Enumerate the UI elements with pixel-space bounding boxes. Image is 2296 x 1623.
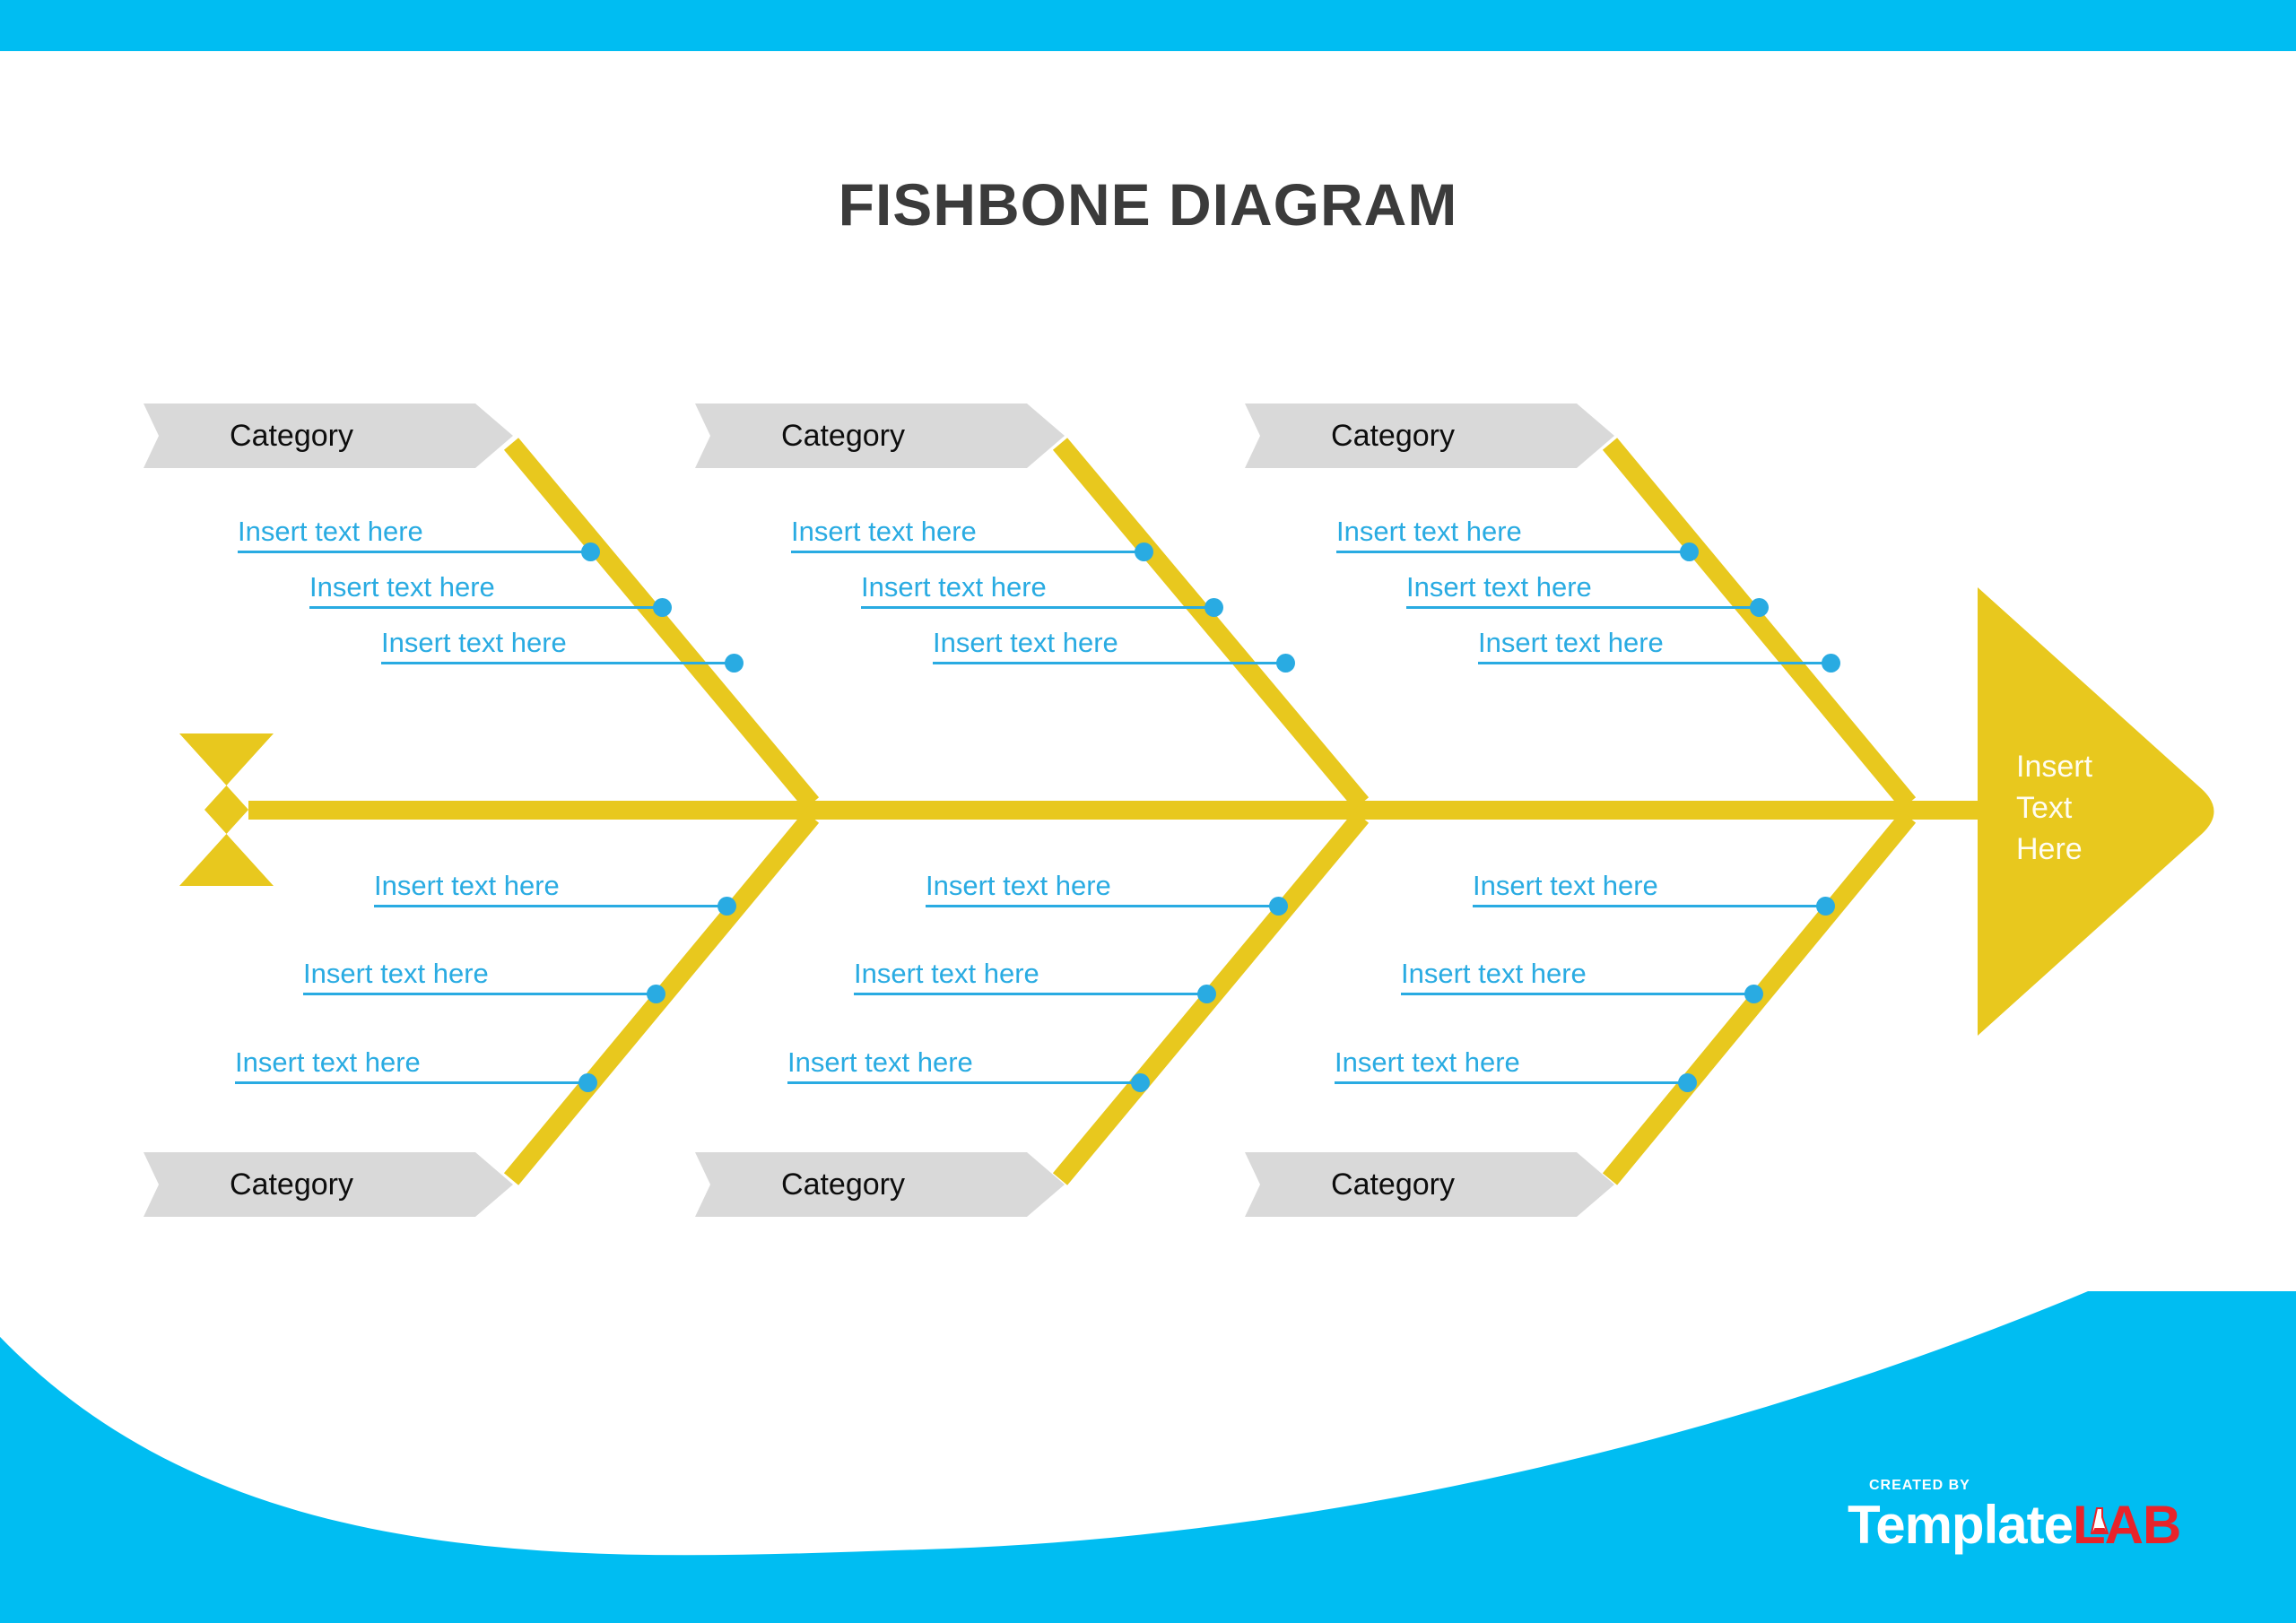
cause-row-bottom-middle-3[interactable]: Insert text here [787, 1037, 1146, 1088]
cause-underline [1336, 551, 1689, 553]
cause-dot-icon [1678, 1073, 1697, 1092]
cause-text: Insert text here [381, 627, 567, 659]
cause-underline [309, 606, 662, 609]
logo-lab-text: LAB [2073, 1495, 2180, 1555]
cause-underline [235, 1081, 587, 1084]
category-label: Category [1245, 419, 1577, 454]
cause-text: Insert text here [303, 958, 489, 990]
category-banner-top-left[interactable]: Category [143, 404, 475, 468]
cause-dot-icon [1197, 985, 1216, 1003]
cause-text: Insert text here [933, 627, 1118, 659]
category-banner-top-middle[interactable]: Category [695, 404, 1027, 468]
category-banner-point-top-right [1577, 404, 1614, 468]
category-banner-point-bottom-left [475, 1152, 513, 1217]
flask-icon [2091, 1506, 2109, 1537]
cause-underline [861, 606, 1213, 609]
cause-row-top-right-1[interactable]: Insert text here [1336, 507, 1695, 557]
cause-text: Insert text here [1478, 627, 1664, 659]
category-label: Category [695, 419, 1027, 454]
cause-underline [1478, 662, 1831, 664]
cause-dot-icon [581, 542, 600, 561]
fish-spine-line [248, 801, 2038, 820]
cause-dot-icon [578, 1073, 597, 1092]
cause-underline [791, 551, 1144, 553]
cause-dot-icon [653, 598, 672, 617]
cause-dot-icon [1750, 598, 1769, 617]
category-banner-point-bottom-middle [1027, 1152, 1065, 1217]
cause-dot-icon [1135, 542, 1153, 561]
cause-row-top-right-3[interactable]: Insert text here [1478, 618, 1837, 668]
cause-dot-icon [1680, 542, 1699, 561]
category-banner-point-top-middle [1027, 404, 1065, 468]
cause-underline [1335, 1081, 1687, 1084]
cause-text: Insert text here [374, 870, 560, 902]
cause-underline [787, 1081, 1140, 1084]
cause-row-top-left-1[interactable]: Insert text here [238, 507, 596, 557]
effect-label[interactable]: Insert Text Here [2016, 746, 2092, 870]
cause-text: Insert text here [235, 1046, 421, 1079]
cause-text: Insert text here [787, 1046, 973, 1079]
cause-text: Insert text here [1336, 516, 1522, 548]
cause-dot-icon [725, 654, 744, 673]
cause-dot-icon [1269, 897, 1288, 916]
cause-dot-icon [1816, 897, 1835, 916]
cause-row-bottom-right-1[interactable]: Insert text here [1473, 861, 1831, 911]
logo-wordmark: TemplateLAB [1848, 1494, 2180, 1556]
cause-row-top-left-3[interactable]: Insert text here [381, 618, 740, 668]
cause-underline [854, 993, 1206, 995]
bottom-blue-wave [0, 1291, 2296, 1623]
slide-canvas: FISHBONE DIAGRAM [0, 0, 2296, 1623]
cause-dot-icon [1131, 1073, 1150, 1092]
cause-row-top-middle-3[interactable]: Insert text here [933, 618, 1291, 668]
cause-dot-icon [1744, 985, 1763, 1003]
cause-dot-icon [647, 985, 665, 1003]
cause-underline [1401, 993, 1753, 995]
logo-created-by-text: CREATED BY [1869, 1478, 1970, 1494]
cause-row-bottom-left-2[interactable]: Insert text here [303, 949, 662, 999]
cause-text: Insert text here [861, 571, 1047, 603]
cause-text: Insert text here [238, 516, 423, 548]
top-blue-bar [0, 0, 2296, 51]
cause-row-bottom-left-1[interactable]: Insert text here [374, 861, 733, 911]
cause-row-bottom-middle-1[interactable]: Insert text here [926, 861, 1284, 911]
category-banner-top-right[interactable]: Category [1245, 404, 1577, 468]
cause-underline [926, 905, 1278, 907]
category-banner-bottom-middle[interactable]: Category [695, 1152, 1027, 1217]
cause-text: Insert text here [1401, 958, 1587, 990]
cause-underline [238, 551, 590, 553]
fish-tail-icon [179, 733, 274, 886]
templatelab-logo[interactable]: CREATED BY TemplateLAB [1848, 1478, 2170, 1567]
logo-template-text: Template [1848, 1495, 2073, 1555]
cause-row-bottom-middle-2[interactable]: Insert text here [854, 949, 1213, 999]
cause-row-top-right-2[interactable]: Insert text here [1406, 562, 1765, 612]
cause-dot-icon [1205, 598, 1223, 617]
cause-dot-icon [1822, 654, 1840, 673]
cause-dot-icon [1276, 654, 1295, 673]
category-label: Category [143, 1167, 475, 1202]
cause-text: Insert text here [1335, 1046, 1520, 1079]
cause-underline [1473, 905, 1825, 907]
cause-text: Insert text here [1406, 571, 1592, 603]
category-label: Category [143, 419, 475, 454]
fish-head-arrow [1978, 587, 2214, 1036]
cause-text: Insert text here [854, 958, 1039, 990]
category-banner-bottom-left[interactable]: Category [143, 1152, 475, 1217]
cause-row-bottom-right-2[interactable]: Insert text here [1401, 949, 1760, 999]
cause-dot-icon [717, 897, 736, 916]
cause-row-top-middle-1[interactable]: Insert text here [791, 507, 1150, 557]
cause-row-bottom-right-3[interactable]: Insert text here [1335, 1037, 1693, 1088]
category-label: Category [695, 1167, 1027, 1202]
cause-text: Insert text here [309, 571, 495, 603]
cause-text: Insert text here [1473, 870, 1658, 902]
cause-text: Insert text here [926, 870, 1111, 902]
cause-row-bottom-left-3[interactable]: Insert text here [235, 1037, 594, 1088]
cause-text: Insert text here [791, 516, 977, 548]
category-label: Category [1245, 1167, 1577, 1202]
cause-underline [933, 662, 1285, 664]
cause-underline [374, 905, 726, 907]
category-banner-bottom-right[interactable]: Category [1245, 1152, 1577, 1217]
category-banner-point-top-left [475, 404, 513, 468]
cause-underline [1406, 606, 1759, 609]
cause-underline [381, 662, 734, 664]
category-banner-point-bottom-right [1577, 1152, 1614, 1217]
cause-underline [303, 993, 656, 995]
cause-row-top-middle-2[interactable]: Insert text here [861, 562, 1220, 612]
cause-row-top-left-2[interactable]: Insert text here [309, 562, 668, 612]
page-title: FISHBONE DIAGRAM [0, 170, 2296, 239]
